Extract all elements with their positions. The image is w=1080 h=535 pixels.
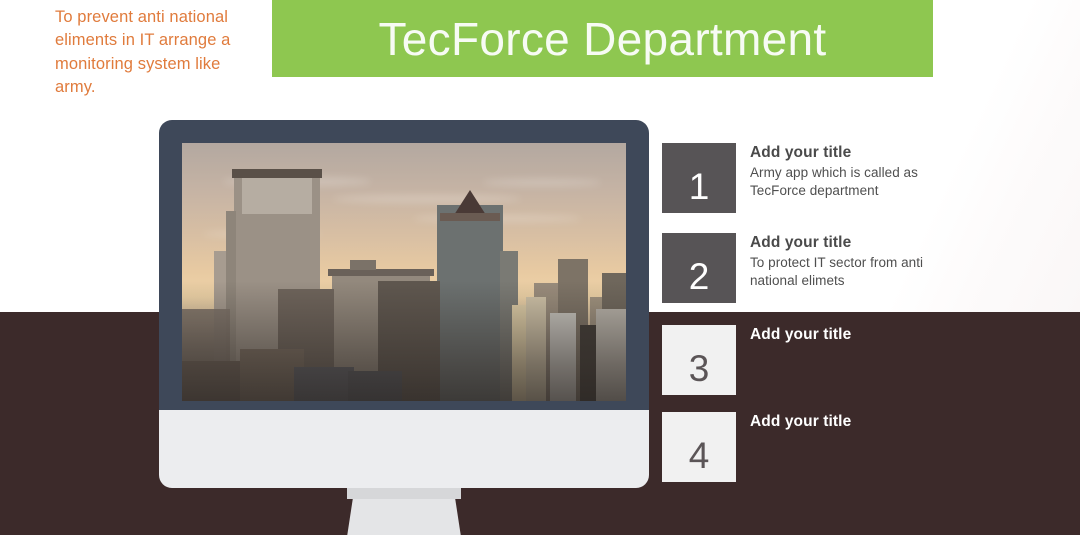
list-item-number-badge: 3 bbox=[662, 325, 736, 395]
presentation-slide: To prevent anti national eliments in IT … bbox=[0, 0, 1080, 535]
list-item-description: Army app which is called as TecForce dep… bbox=[750, 164, 965, 199]
list-item-title: Add your title bbox=[750, 325, 965, 345]
monitor-chin bbox=[159, 410, 649, 488]
list-item-number: 1 bbox=[689, 168, 710, 205]
list-item-number-badge: 2 bbox=[662, 233, 736, 303]
list-item-title: Add your title bbox=[750, 143, 965, 163]
page-title: TecForce Department bbox=[379, 12, 827, 66]
city-skyline-sunset-photo bbox=[182, 143, 626, 401]
list-item-title: Add your title bbox=[750, 412, 965, 432]
lead-paragraph: To prevent anti national eliments in IT … bbox=[55, 6, 240, 99]
list-item-text: Add your title bbox=[750, 325, 965, 346]
list-item-number: 4 bbox=[689, 437, 710, 474]
list-item-title: Add your title bbox=[750, 233, 965, 253]
list-item-text: Add your title To protect IT sector from… bbox=[750, 233, 965, 289]
list-item-number-badge: 1 bbox=[662, 143, 736, 213]
list-item-text: Add your title bbox=[750, 412, 965, 433]
monitor-stand-neck-top bbox=[347, 488, 461, 499]
desktop-monitor-icon bbox=[159, 120, 649, 535]
list-item-number: 2 bbox=[689, 258, 710, 295]
list-item-number: 3 bbox=[689, 350, 710, 387]
title-banner: TecForce Department bbox=[272, 0, 933, 77]
list-item-description: To protect IT sector from anti national … bbox=[750, 254, 965, 289]
list-item-text: Add your title Army app which is called … bbox=[750, 143, 965, 199]
monitor-screen bbox=[182, 143, 626, 401]
list-item-number-badge: 4 bbox=[662, 412, 736, 482]
